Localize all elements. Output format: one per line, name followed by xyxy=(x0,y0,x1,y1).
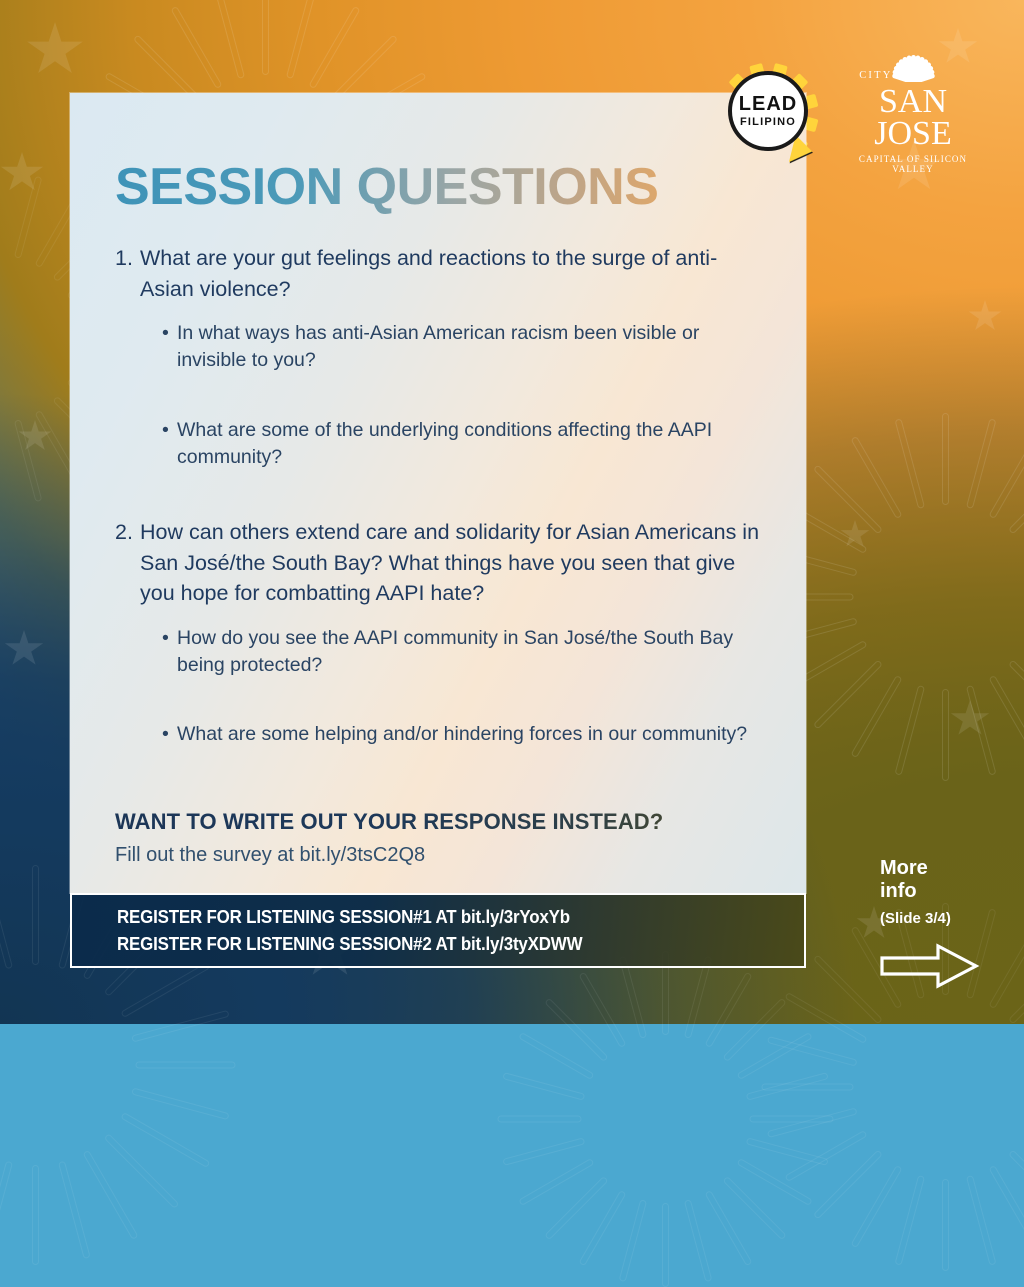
sj-city-of-label: CITY OF xyxy=(818,70,956,81)
sub-bullet-text: What are some of the underlying conditio… xyxy=(177,417,766,472)
sub-bullet-item: • What are some of the underlying condit… xyxy=(115,417,766,472)
sub-bullet-text: How do you see the AAPI community in San… xyxy=(177,625,766,680)
spacer xyxy=(115,391,766,417)
question-text: How can others extend care and solidarit… xyxy=(140,517,766,609)
more-info-block[interactable]: More info (Slide 3/4) xyxy=(880,857,998,994)
sj-tagline-label: CAPITAL OF SILICON VALLEY xyxy=(844,154,982,174)
arrow-right-icon[interactable] xyxy=(880,943,980,989)
register-line-1: REGISTER FOR LISTENING SESSION#1 AT bit.… xyxy=(117,904,763,930)
lead-filipino-sub: FILIPINO xyxy=(740,116,796,128)
sub-bullet-list: • In what ways has anti-Asian American r… xyxy=(115,320,766,471)
more-info-line-1: More xyxy=(880,857,998,879)
question-number: 1. xyxy=(115,243,140,304)
sub-bullet-list: • How do you see the AAPI community in S… xyxy=(115,625,766,749)
spacer xyxy=(115,695,766,721)
city-of-san-jose-logo: CITY OF SAN JOSE CAPITAL OF SILICON VALL… xyxy=(844,52,982,174)
bullet-icon: • xyxy=(162,417,177,472)
next-slide-arrow[interactable] xyxy=(880,943,998,994)
spacer xyxy=(115,491,766,517)
speech-bubble-icon: LEAD FILIPINO xyxy=(728,71,808,151)
question-text: What are your gut feelings and reactions… xyxy=(140,243,766,304)
register-footer-bar: REGISTER FOR LISTENING SESSION#1 AT bit.… xyxy=(70,893,806,968)
page-title: SESSION QUESTIONS xyxy=(115,157,766,217)
bullet-icon: • xyxy=(162,625,177,680)
bullet-icon: • xyxy=(162,320,177,375)
cta-subtext: Fill out the survey at bit.ly/3tsC2Q8 xyxy=(115,844,766,867)
question-number: 2. xyxy=(115,517,140,609)
lead-filipino-word: LEAD xyxy=(739,94,797,114)
bullet-icon: • xyxy=(162,721,177,748)
sub-bullet-item: • What are some helping and/or hindering… xyxy=(115,721,766,748)
question-item: 1. What are your gut feelings and reacti… xyxy=(115,243,766,304)
slide-counter: (Slide 3/4) xyxy=(880,910,998,927)
content-card: SESSION QUESTIONS 1. What are your gut f… xyxy=(70,93,806,893)
sub-bullet-item: • In what ways has anti-Asian American r… xyxy=(115,320,766,375)
more-info-title: More info xyxy=(880,857,998,902)
spacer xyxy=(115,769,766,809)
sub-bullet-text: In what ways has anti-Asian American rac… xyxy=(177,320,766,375)
more-info-line-2: info xyxy=(880,880,998,902)
cta-heading: WANT TO WRITE OUT YOUR RESPONSE INSTEAD? xyxy=(115,809,766,835)
sj-name-label: SAN JOSE xyxy=(844,86,982,151)
sub-bullet-text: What are some helping and/or hindering f… xyxy=(177,721,766,748)
sub-bullet-item: • How do you see the AAPI community in S… xyxy=(115,625,766,680)
register-line-2: REGISTER FOR LISTENING SESSION#2 AT bit.… xyxy=(117,931,763,957)
question-item: 2. How can others extend care and solida… xyxy=(115,517,766,609)
